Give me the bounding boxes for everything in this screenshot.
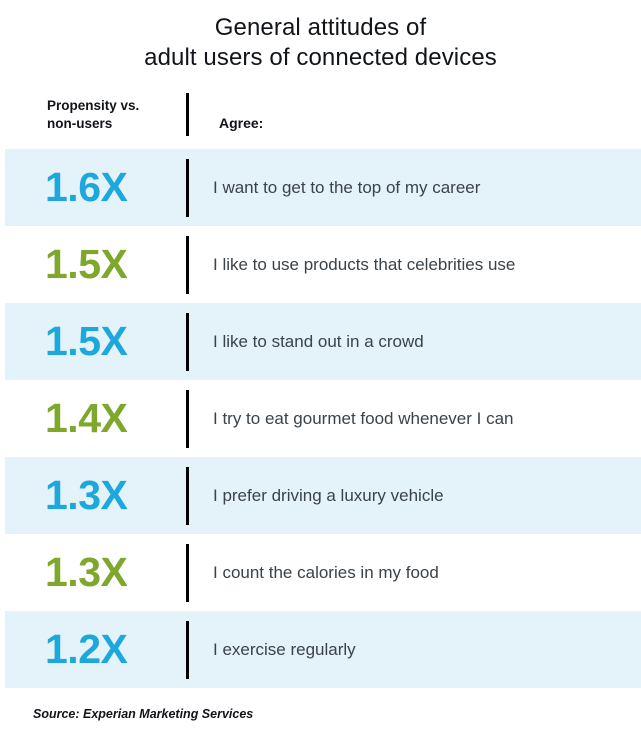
attitude-statement: I try to eat gourmet food whenever I can [213, 408, 514, 430]
page-title-line-2: adult users of connected devices [0, 43, 641, 73]
infographic-container: General attitudes of adult users of conn… [0, 0, 641, 732]
attitude-statement: I exercise regularly [213, 639, 356, 661]
propensity-value: 1.6X [45, 167, 185, 208]
page-title-line-1: General attitudes of [0, 13, 641, 43]
table-row: 1.5XI like to stand out in a crowd [5, 303, 641, 380]
table-header: Propensity vs. non-users Agree: [0, 93, 641, 149]
table-row: 1.3XI count the calories in my food [0, 534, 641, 611]
table-row: 1.6XI want to get to the top of my caree… [5, 149, 641, 226]
attitude-statement: I like to use products that celebrities … [213, 254, 515, 276]
attitude-statement: I prefer driving a luxury vehicle [213, 485, 444, 507]
row-column-divider [186, 544, 189, 602]
row-column-divider [186, 390, 189, 448]
propensity-value: 1.2X [45, 629, 185, 670]
table-row: 1.4XI try to eat gourmet food whenever I… [0, 380, 641, 457]
row-column-divider [186, 236, 189, 294]
table-row: 1.5XI like to use products that celebrit… [0, 226, 641, 303]
row-column-divider [186, 467, 189, 525]
page-title: General attitudes of adult users of conn… [0, 0, 641, 73]
row-column-divider [186, 621, 189, 679]
source-note: Source: Experian Marketing Services [33, 707, 253, 721]
column-header-agree: Agree: [219, 115, 263, 131]
attitude-statement: I like to stand out in a crowd [213, 331, 424, 353]
propensity-value: 1.5X [45, 244, 185, 285]
propensity-value: 1.3X [45, 475, 185, 516]
column-header-propensity: Propensity vs. non-users [47, 97, 177, 133]
propensity-value: 1.4X [45, 398, 185, 439]
attitude-statement: I count the calories in my food [213, 562, 439, 584]
column-header-propensity-line-2: non-users [47, 116, 112, 131]
table-row: 1.3XI prefer driving a luxury vehicle [5, 457, 641, 534]
attitude-statement: I want to get to the top of my career [213, 177, 480, 199]
propensity-value: 1.3X [45, 552, 185, 593]
row-column-divider [186, 159, 189, 217]
row-column-divider [186, 313, 189, 371]
column-header-propensity-line-1: Propensity vs. [47, 98, 139, 113]
propensity-value: 1.5X [45, 321, 185, 362]
data-rows: 1.6XI want to get to the top of my caree… [0, 149, 641, 688]
header-column-divider [186, 93, 189, 136]
table-row: 1.2XI exercise regularly [5, 611, 641, 688]
